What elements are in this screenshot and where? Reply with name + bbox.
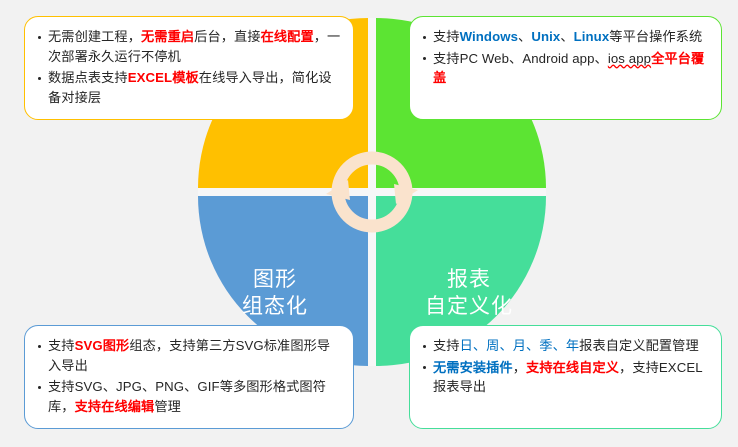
list-item: 支持PC Web、Android app、ios app全平台覆盖 [420, 49, 709, 88]
callout-cross-platform-list: 支持Windows、Unix、Linux等平台操作系统 支持PC Web、And… [420, 27, 709, 88]
callout-online: 无需创建工程，无需重启后台，直接在线配置，一次部署永久运行不停机 数据点表支持E… [24, 16, 354, 120]
list-item: 支持日、周、月、季、年报表自定义配置管理 [420, 336, 709, 356]
callout-online-list: 无需创建工程，无需重启后台，直接在线配置，一次部署永久运行不停机 数据点表支持E… [35, 27, 341, 107]
infographic-canvas: 在线化 跨 平台化 图形 组态化 报表 自定义化 无需创建 [0, 0, 738, 447]
quadrant-report-label-line2: 自定义化 [425, 293, 513, 320]
quadrant-graphics-label-line2: 组态化 [242, 293, 308, 320]
list-item: 数据点表支持EXCEL模板在线导入导出，简化设备对接层 [35, 68, 341, 107]
quadrant-report-label-line1: 报表 [447, 266, 491, 293]
callout-graphics: 支持SVG图形组态，支持第三方SVG标准图形导入导出 支持SVG、JPG、PNG… [24, 325, 354, 429]
list-item: 支持SVG图形组态，支持第三方SVG标准图形导入导出 [35, 336, 341, 375]
quadrant-divider-horizontal [198, 188, 546, 196]
quadrant-graphics-label-line1: 图形 [253, 266, 297, 293]
list-item: 无需创建工程，无需重启后台，直接在线配置，一次部署永久运行不停机 [35, 27, 341, 66]
callout-cross-platform: 支持Windows、Unix、Linux等平台操作系统 支持PC Web、And… [409, 16, 722, 120]
list-item: 支持SVG、JPG、PNG、GIF等多图形格式图符库，支持在线编辑管理 [35, 377, 341, 416]
callout-report-list: 支持日、周、月、季、年报表自定义配置管理 无需安装插件，支持在线自定义，支持EX… [420, 336, 709, 397]
callout-graphics-list: 支持SVG图形组态，支持第三方SVG标准图形导入导出 支持SVG、JPG、PNG… [35, 336, 341, 416]
list-item: 支持Windows、Unix、Linux等平台操作系统 [420, 27, 709, 47]
list-item: 无需安装插件，支持在线自定义，支持EXCEL报表导出 [420, 358, 709, 397]
callout-report: 支持日、周、月、季、年报表自定义配置管理 无需安装插件，支持在线自定义，支持EX… [409, 325, 722, 429]
